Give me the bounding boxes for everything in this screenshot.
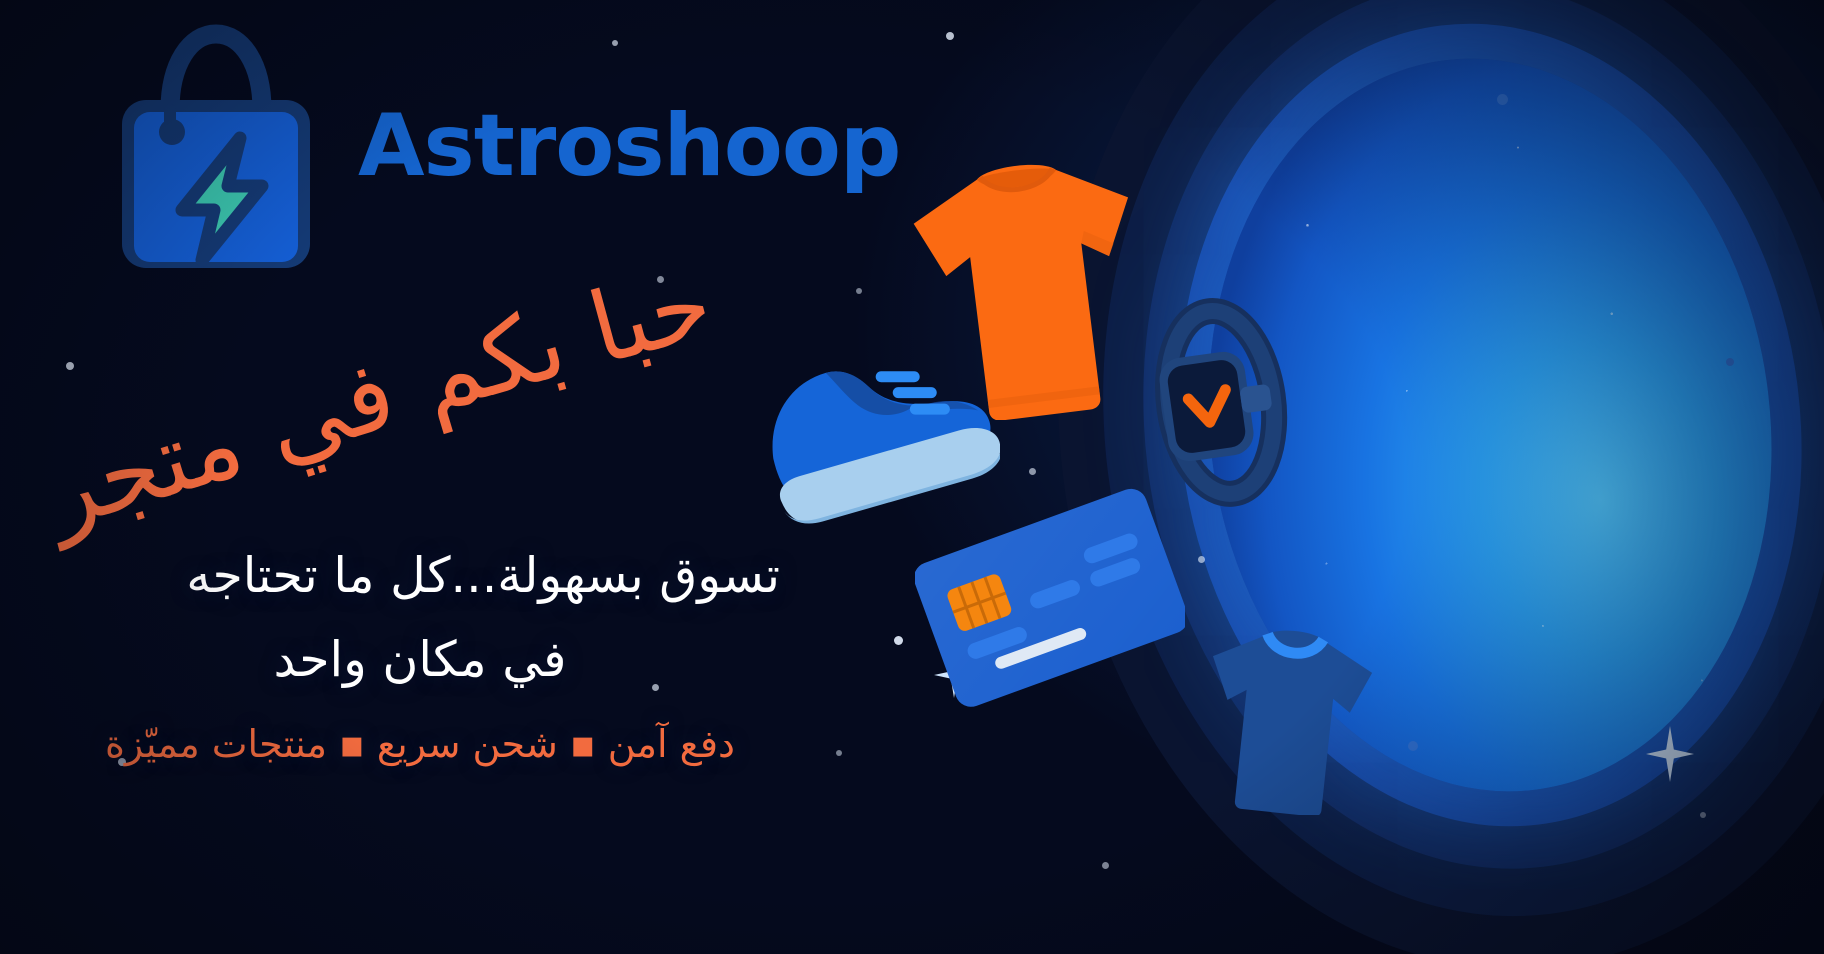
- headline-script-arabic: مرحبا بكم في متجركم: [60, 292, 740, 542]
- credit-card-icon: [915, 478, 1185, 713]
- star-dot: [836, 750, 842, 756]
- t-shirt-navy-icon: [1185, 620, 1385, 815]
- astroshoop-promo-banner: Astroshoop مرحبا بكم في متجركم تسوق بسهو…: [0, 0, 1824, 954]
- star-dot: [1102, 862, 1109, 869]
- brand-name: Astroshoop: [358, 103, 901, 189]
- star-dot: [1029, 468, 1036, 475]
- star-dot: [1700, 812, 1706, 818]
- brand-logo[interactable]: Astroshoop: [100, 18, 901, 274]
- shopping-bag-lightning-icon: [100, 18, 332, 274]
- star-dot: [1198, 556, 1205, 563]
- subheadline-line2: في مكان واحد: [60, 632, 780, 688]
- subheadline-line1: تسوق بسهولة...كل ما تحتاجه: [60, 548, 780, 604]
- star-dot: [856, 288, 862, 294]
- tagline-features: دفع آمن ▪ شحن سريع ▪ منتجات مميّزة: [60, 722, 780, 766]
- star-dot: [1726, 358, 1734, 366]
- star-dot: [1497, 94, 1508, 105]
- star-dot: [1408, 741, 1418, 751]
- star-dot: [894, 636, 903, 645]
- star-dot: [946, 32, 954, 40]
